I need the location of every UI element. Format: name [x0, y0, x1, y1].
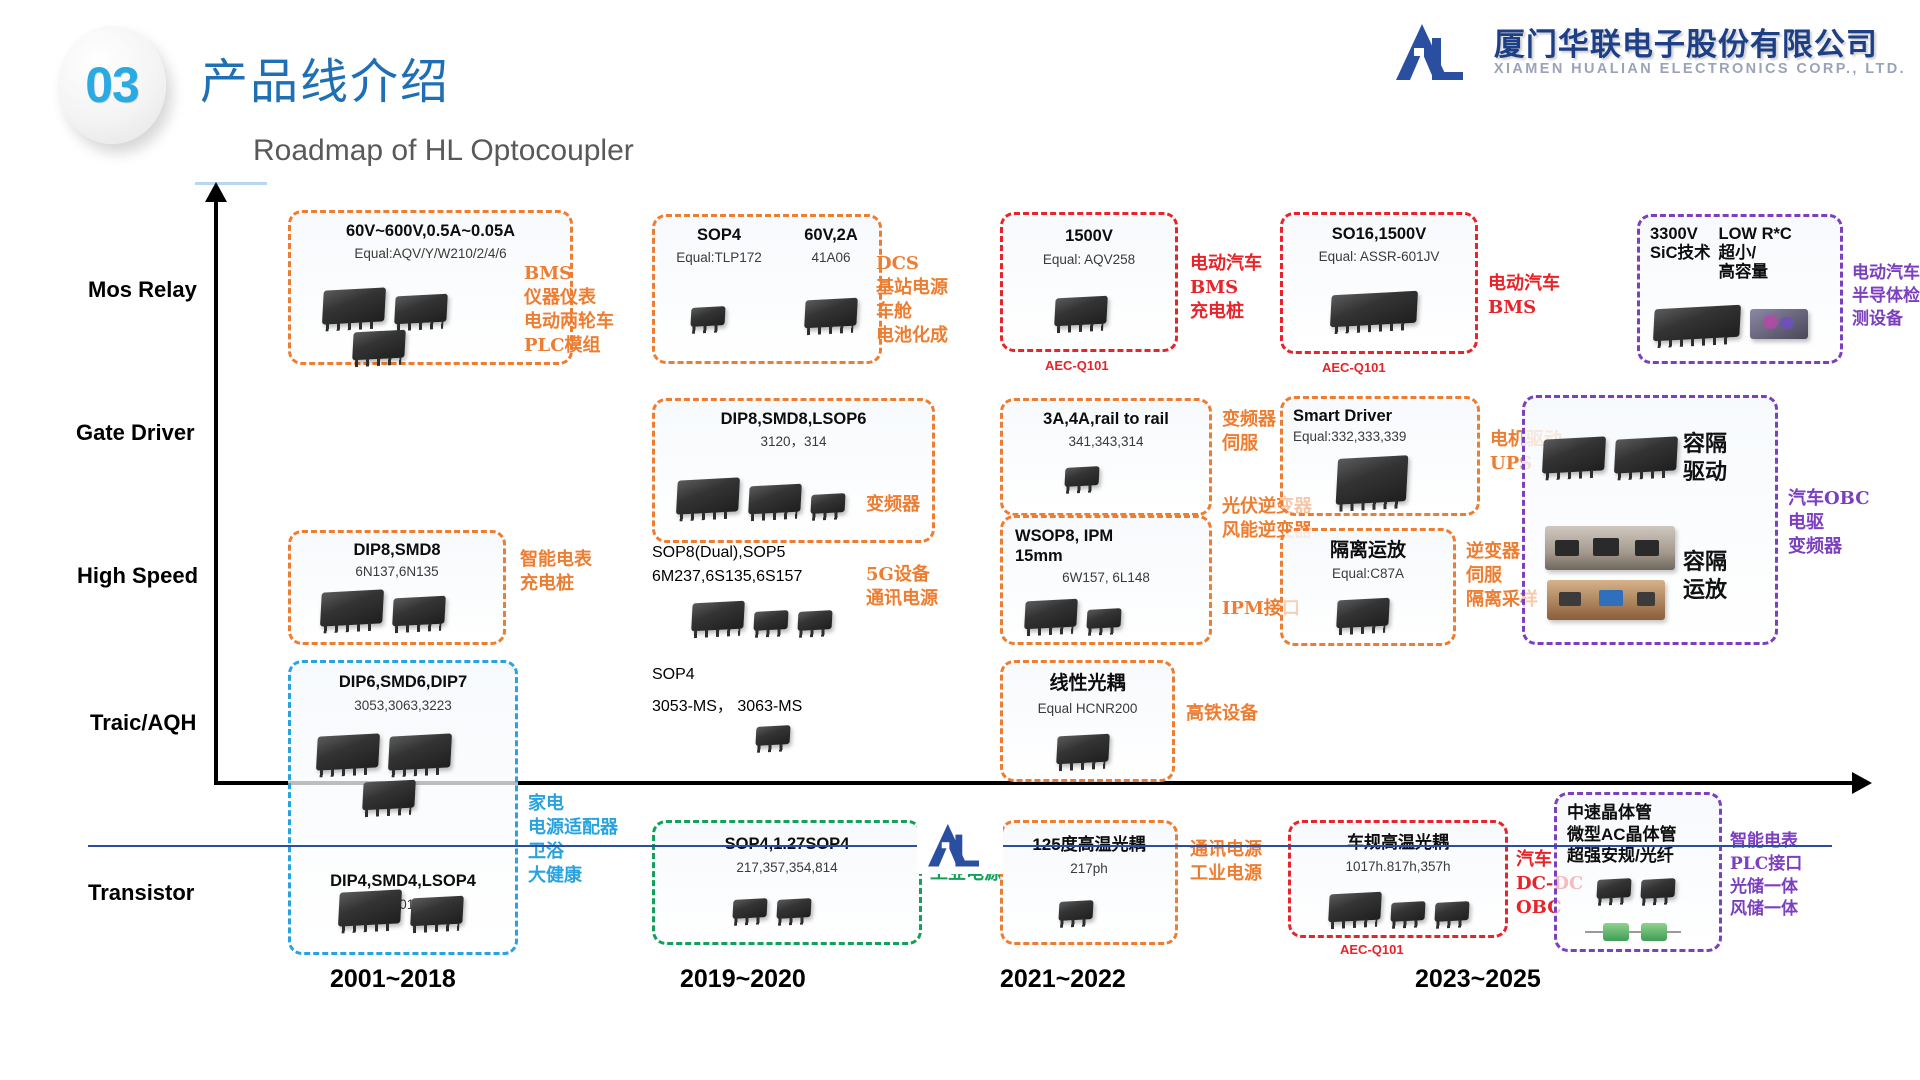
- box-subtitle: 41A06: [804, 250, 858, 266]
- chip-icon: [797, 610, 832, 631]
- chip-icon: [316, 733, 380, 770]
- note-line: 大健康: [528, 864, 618, 888]
- note-line: 家电: [528, 792, 618, 816]
- chip-icon: [1056, 734, 1110, 765]
- row-label-transistor: Transistor: [88, 880, 194, 906]
- note-line: 电动汽车: [1190, 252, 1262, 276]
- chip-icon: [1064, 466, 1099, 487]
- chip-group: [1055, 297, 1107, 325]
- note-line: 光储一体: [1730, 876, 1802, 899]
- chip-icon: [1390, 901, 1425, 922]
- note-line: 仪器仪表: [524, 286, 614, 310]
- box-subtitle: Equal:C87A: [1283, 566, 1453, 582]
- note-line: 车舱: [876, 300, 948, 324]
- page-title: 产品线介绍: [200, 42, 450, 112]
- col-label-2019-2020: 2019~2020: [680, 965, 806, 994]
- chip-group: [733, 899, 811, 918]
- board-photo-icon: [1547, 580, 1665, 620]
- box-subtitle: 3053,3063,3223: [291, 698, 515, 714]
- box-subtitle: Equal:AQV/Y/W210/2/4/6: [291, 246, 570, 262]
- note-line: 通讯电源: [866, 587, 938, 611]
- note-line: 测设备: [1852, 308, 1920, 331]
- box-subtitle: Equal: AQV258: [1003, 252, 1175, 268]
- box-title: 超小/: [1719, 244, 1792, 263]
- note-line: 通讯电源: [1190, 838, 1262, 862]
- chip-group: [1057, 735, 1109, 763]
- chip-group: [756, 726, 790, 745]
- logo-company-cn: 厦门华联电子股份有限公司: [1494, 29, 1906, 62]
- module-photo-icon: [1750, 309, 1808, 339]
- box-title: SO16,1500V: [1283, 225, 1475, 244]
- note-line: 电动汽车: [1488, 272, 1560, 296]
- box-transistor-2021[interactable]: 125度高温光耦 217ph: [1000, 820, 1178, 945]
- page-subtitle: Roadmap of HL Optocoupler: [253, 134, 634, 168]
- chip-icon: [338, 889, 402, 926]
- note-line: PLC模组: [524, 334, 614, 358]
- note-line: 高铁设备: [1186, 702, 1258, 726]
- box-title: 60V~600V,0.5A~0.05A: [291, 222, 570, 241]
- chip-group: [1337, 599, 1389, 627]
- aec-badge-transistor-2023: AEC-Q101: [1340, 942, 1404, 957]
- box-mos-2021[interactable]: 1500V Equal: AQV258: [1000, 212, 1178, 352]
- note-line: 变频器: [866, 493, 920, 517]
- note-hs-2019-apps: 5G设备 通讯电源: [866, 563, 938, 611]
- hl-logo-icon: [925, 822, 995, 870]
- note-line: 5G设备: [866, 563, 938, 587]
- fiber-component-icon: [1585, 921, 1681, 943]
- chip-group: [1543, 438, 1677, 472]
- chip-icon: [1542, 436, 1606, 473]
- box-label: 驱动: [1683, 458, 1727, 486]
- note-line: 电驱: [1788, 511, 1870, 535]
- box-subtitle: Equal HCNR200: [1003, 701, 1172, 717]
- note-line: 充电桩: [1190, 300, 1262, 324]
- box-subtitle: 1017h.817h,357h: [1291, 859, 1505, 875]
- note-line: 半导体检: [1852, 285, 1920, 308]
- note-line: 风储一体: [1730, 898, 1802, 921]
- box-subtitle: 217ph: [1003, 861, 1175, 877]
- note-line: 基站电源: [876, 276, 948, 300]
- chip-icon: [1330, 291, 1418, 327]
- note-line: 伺服: [1222, 432, 1276, 456]
- box-subtitle: 6N137,6N135: [291, 564, 503, 580]
- chip-group: [1337, 457, 1407, 503]
- box-title: 3A,4A,rail to rail: [1003, 410, 1209, 429]
- note-line: 电池化成: [876, 324, 948, 348]
- slide-root: 03 产品线介绍 Roadmap of HL Optocoupler 厦门华联电…: [0, 0, 1920, 1080]
- chip-icon: [690, 306, 725, 327]
- chip-icon: [320, 589, 384, 626]
- note-line: 充电桩: [520, 572, 592, 596]
- chip-icon: [753, 610, 788, 631]
- box-title: SOP4: [652, 666, 912, 684]
- note-line: BMS: [524, 262, 614, 286]
- note-line: 电动汽车: [1852, 262, 1920, 285]
- note-line: 智能电表: [1730, 830, 1802, 853]
- box-title: LOW R*C: [1719, 225, 1792, 244]
- chip-icon: [1336, 598, 1390, 629]
- note-mos-2023-apps: 电动汽车 BMS: [1488, 272, 1560, 320]
- box-title: WSOP8, IPM: [1015, 527, 1209, 546]
- chip-icon: [1614, 436, 1678, 473]
- note-line: 变频器: [1788, 535, 1870, 559]
- row-label-gate-driver: Gate Driver: [76, 420, 195, 446]
- note-traic-2001-apps: 家电 电源适配器 卫浴 大健康: [528, 792, 618, 888]
- chip-group: [1654, 307, 1808, 339]
- box-subtitle: 341,343,314: [1003, 434, 1209, 450]
- chip-icon: [362, 780, 416, 811]
- box-gate-2021-rail[interactable]: 3A,4A,rail to rail 341,343,314: [1000, 398, 1212, 516]
- box-title: 隔离运放: [1283, 540, 1453, 562]
- box-traic-2001[interactable]: DIP6,SMD6,DIP7 3053,3063,3223 DIP4,SMD4,…: [288, 660, 518, 955]
- box-title: 超强安规/光纤: [1567, 846, 1719, 866]
- box-title: SiC技术: [1650, 244, 1711, 263]
- chip-group: [1329, 893, 1469, 921]
- note-line: 电动两轮车: [524, 310, 614, 334]
- box-label: 容隔: [1683, 548, 1727, 576]
- chip-group: [323, 289, 447, 323]
- note-line: 卫浴: [528, 840, 618, 864]
- chip-group: [805, 299, 857, 327]
- note-mos-2001-apps: BMS 仪器仪表 电动两轮车 PLC模组: [524, 262, 614, 358]
- chip-group: [1065, 467, 1099, 486]
- chip-icon: [1086, 608, 1121, 629]
- box-title: 中速晶体管: [1567, 803, 1719, 823]
- chip-icon: [322, 287, 386, 324]
- section-number: 03: [58, 26, 166, 144]
- chip-icon: [776, 898, 811, 919]
- note-gate-2019-apps: 变频器: [866, 493, 920, 517]
- box-title: DIP4,SMD4,LSOP4: [291, 872, 515, 891]
- note-mos-2023b-apps: 电动汽车 半导体检 测设备: [1852, 262, 1920, 330]
- row-label-mos-relay: Mos Relay: [88, 277, 197, 303]
- company-logo: 厦门华联电子股份有限公司 XIAMEN HUALIAN ELECTRONICS …: [1392, 22, 1906, 84]
- chip-icon: [1653, 305, 1741, 341]
- chip-icon: [1058, 900, 1093, 921]
- box-gate-2023-cap-iso[interactable]: 容隔 驱动 容隔 运放: [1522, 395, 1778, 645]
- footer-logo: [917, 818, 1003, 874]
- note-line: 汽车OBC: [1788, 487, 1870, 511]
- row-label-high-speed: High Speed: [77, 563, 198, 589]
- box-subtitle: Equal:TLP172: [676, 250, 762, 266]
- chip-group: [1597, 879, 1675, 898]
- box-title: Smart Driver: [1293, 407, 1477, 426]
- note-hs-2001-apps: 智能电表 充电桩: [520, 548, 592, 596]
- note-mos-2021-apps: 电动汽车 BMS 充电桩: [1190, 252, 1262, 324]
- box-gate-2023-iso-amp[interactable]: 隔离运放 Equal:C87A: [1280, 528, 1456, 646]
- note-mos-2019-apps: DCS 基站电源 车舱 电池化成: [876, 252, 948, 348]
- note-gate-2023c-apps: 汽车OBC 电驱 变频器: [1788, 487, 1870, 559]
- chip-icon: [394, 294, 448, 325]
- chip-group: [1059, 901, 1093, 920]
- chip-group: [1025, 600, 1121, 628]
- note-traic-2021-apps: 高铁设备: [1186, 702, 1258, 726]
- box-transistor-2019[interactable]: SOP4,1.27SOP4 217,357,354,814: [652, 820, 922, 945]
- chip-icon: [1434, 901, 1469, 922]
- box-title: DIP8,SMD8: [291, 541, 503, 560]
- box-mos-2023-sic[interactable]: 3300V SiC技术 LOW R*C 超小/ 高容量: [1637, 214, 1843, 364]
- box-title: 60V,2A: [804, 226, 858, 245]
- box-hs-2001[interactable]: DIP8,SMD8 6N137,6N135: [288, 530, 506, 645]
- note-line: 工业电源: [1190, 862, 1262, 886]
- chip-group: [1331, 293, 1417, 325]
- note-gate-2021-apps: 变频器 伺服: [1222, 408, 1276, 456]
- box-title: 车规高温光耦: [1291, 833, 1505, 853]
- note-line: BMS: [1190, 276, 1262, 300]
- box-subtitle: Equal:332,333,339: [1293, 429, 1477, 445]
- box-transistor-2023-auto[interactable]: 车规高温光耦 1017h.817h,357h: [1288, 820, 1508, 938]
- hl-logo-icon: [1392, 22, 1484, 84]
- note-line: 变频器: [1222, 408, 1276, 432]
- box-title: 1500V: [1003, 227, 1175, 246]
- col-label-2021-2022: 2021~2022: [1000, 965, 1126, 994]
- chip-icon: [804, 298, 858, 329]
- chip-icon: [1328, 892, 1382, 923]
- note-line: DCS: [876, 252, 948, 276]
- box-title: 高容量: [1719, 263, 1792, 282]
- box-subtitle: 6W157, 6L148: [1003, 570, 1209, 586]
- box-mos-2023-so16[interactable]: SO16,1500V Equal: ASSR-601JV: [1280, 212, 1478, 354]
- note-line: 电源适配器: [528, 816, 618, 840]
- chip-icon: [392, 596, 446, 627]
- chip-icon: [1640, 878, 1675, 899]
- note-line: PLC接口: [1730, 853, 1802, 876]
- chip-group: [353, 331, 405, 359]
- box-subtitle: 217,357,354,814: [655, 860, 919, 876]
- box-traic-2019[interactable]: SOP4 3053-MS， 3063-MS: [652, 660, 912, 780]
- box-title: 微型AC晶体管: [1567, 825, 1719, 845]
- aec-badge-mos-2021: AEC-Q101: [1045, 358, 1109, 373]
- chip-icon: [1596, 878, 1631, 899]
- chip-icon: [410, 896, 464, 927]
- box-gate-2021-wsop8[interactable]: WSOP8, IPM 15mm 6W157, 6L148: [1000, 515, 1212, 645]
- chip-icon: [732, 898, 767, 919]
- logo-company-en: XIAMEN HUALIAN ELECTRONICS CORP., LTD.: [1494, 61, 1906, 77]
- chip-group: [339, 891, 463, 925]
- box-label: 容隔: [1683, 430, 1727, 458]
- aec-badge-mos-2023: AEC-Q101: [1322, 360, 1386, 375]
- box-title: 线性光耦: [1003, 673, 1172, 695]
- chip-group: [321, 591, 445, 625]
- col-label-2023-2025: 2023~2025: [1415, 965, 1541, 994]
- chip-icon: [691, 601, 745, 632]
- chip-icon: [755, 725, 790, 746]
- col-label-2001-2018: 2001~2018: [330, 965, 456, 994]
- box-subtitle: Equal: ASSR-601JV: [1283, 249, 1475, 265]
- box-title: DIP6,SMD6,DIP7: [291, 673, 515, 692]
- chip-group: [317, 735, 451, 769]
- chip-group: [692, 602, 832, 630]
- box-mos-2019[interactable]: SOP4 Equal:TLP172 60V,2A 41A06: [652, 214, 882, 364]
- note-transistor-2023b-apps: 智能电表 PLC接口 光储一体 风储一体: [1730, 830, 1802, 921]
- y-axis: [214, 200, 218, 785]
- chip-group: [363, 781, 415, 809]
- row-label-traic-aqh: Traic/AQH: [90, 710, 196, 736]
- chip-icon: [352, 330, 406, 361]
- chip-group: [691, 307, 725, 326]
- board-photo-icon: [1545, 526, 1675, 570]
- chip-icon: [1054, 296, 1108, 327]
- box-title: SOP8(Dual),SOP5: [652, 544, 935, 562]
- box-subtitle: 3053-MS， 3063-MS: [652, 692, 912, 716]
- box-label: 运放: [1683, 576, 1727, 604]
- box-title: 3300V: [1650, 225, 1711, 244]
- note-line: BMS: [1488, 296, 1560, 320]
- box-gate-2023-smart-driver[interactable]: Smart Driver Equal:332,333,339: [1280, 396, 1480, 516]
- chip-icon: [1024, 599, 1078, 630]
- chip-icon: [1336, 455, 1409, 505]
- note-line: 智能电表: [520, 548, 592, 572]
- box-title: 15mm: [1015, 547, 1209, 566]
- box-transistor-2023-mid[interactable]: 中速晶体管 微型AC晶体管 超强安规/光纤: [1554, 792, 1722, 952]
- box-traic-2021[interactable]: 线性光耦 Equal HCNR200: [1000, 660, 1175, 782]
- box-title: SOP4: [676, 226, 762, 245]
- chip-icon: [388, 733, 452, 770]
